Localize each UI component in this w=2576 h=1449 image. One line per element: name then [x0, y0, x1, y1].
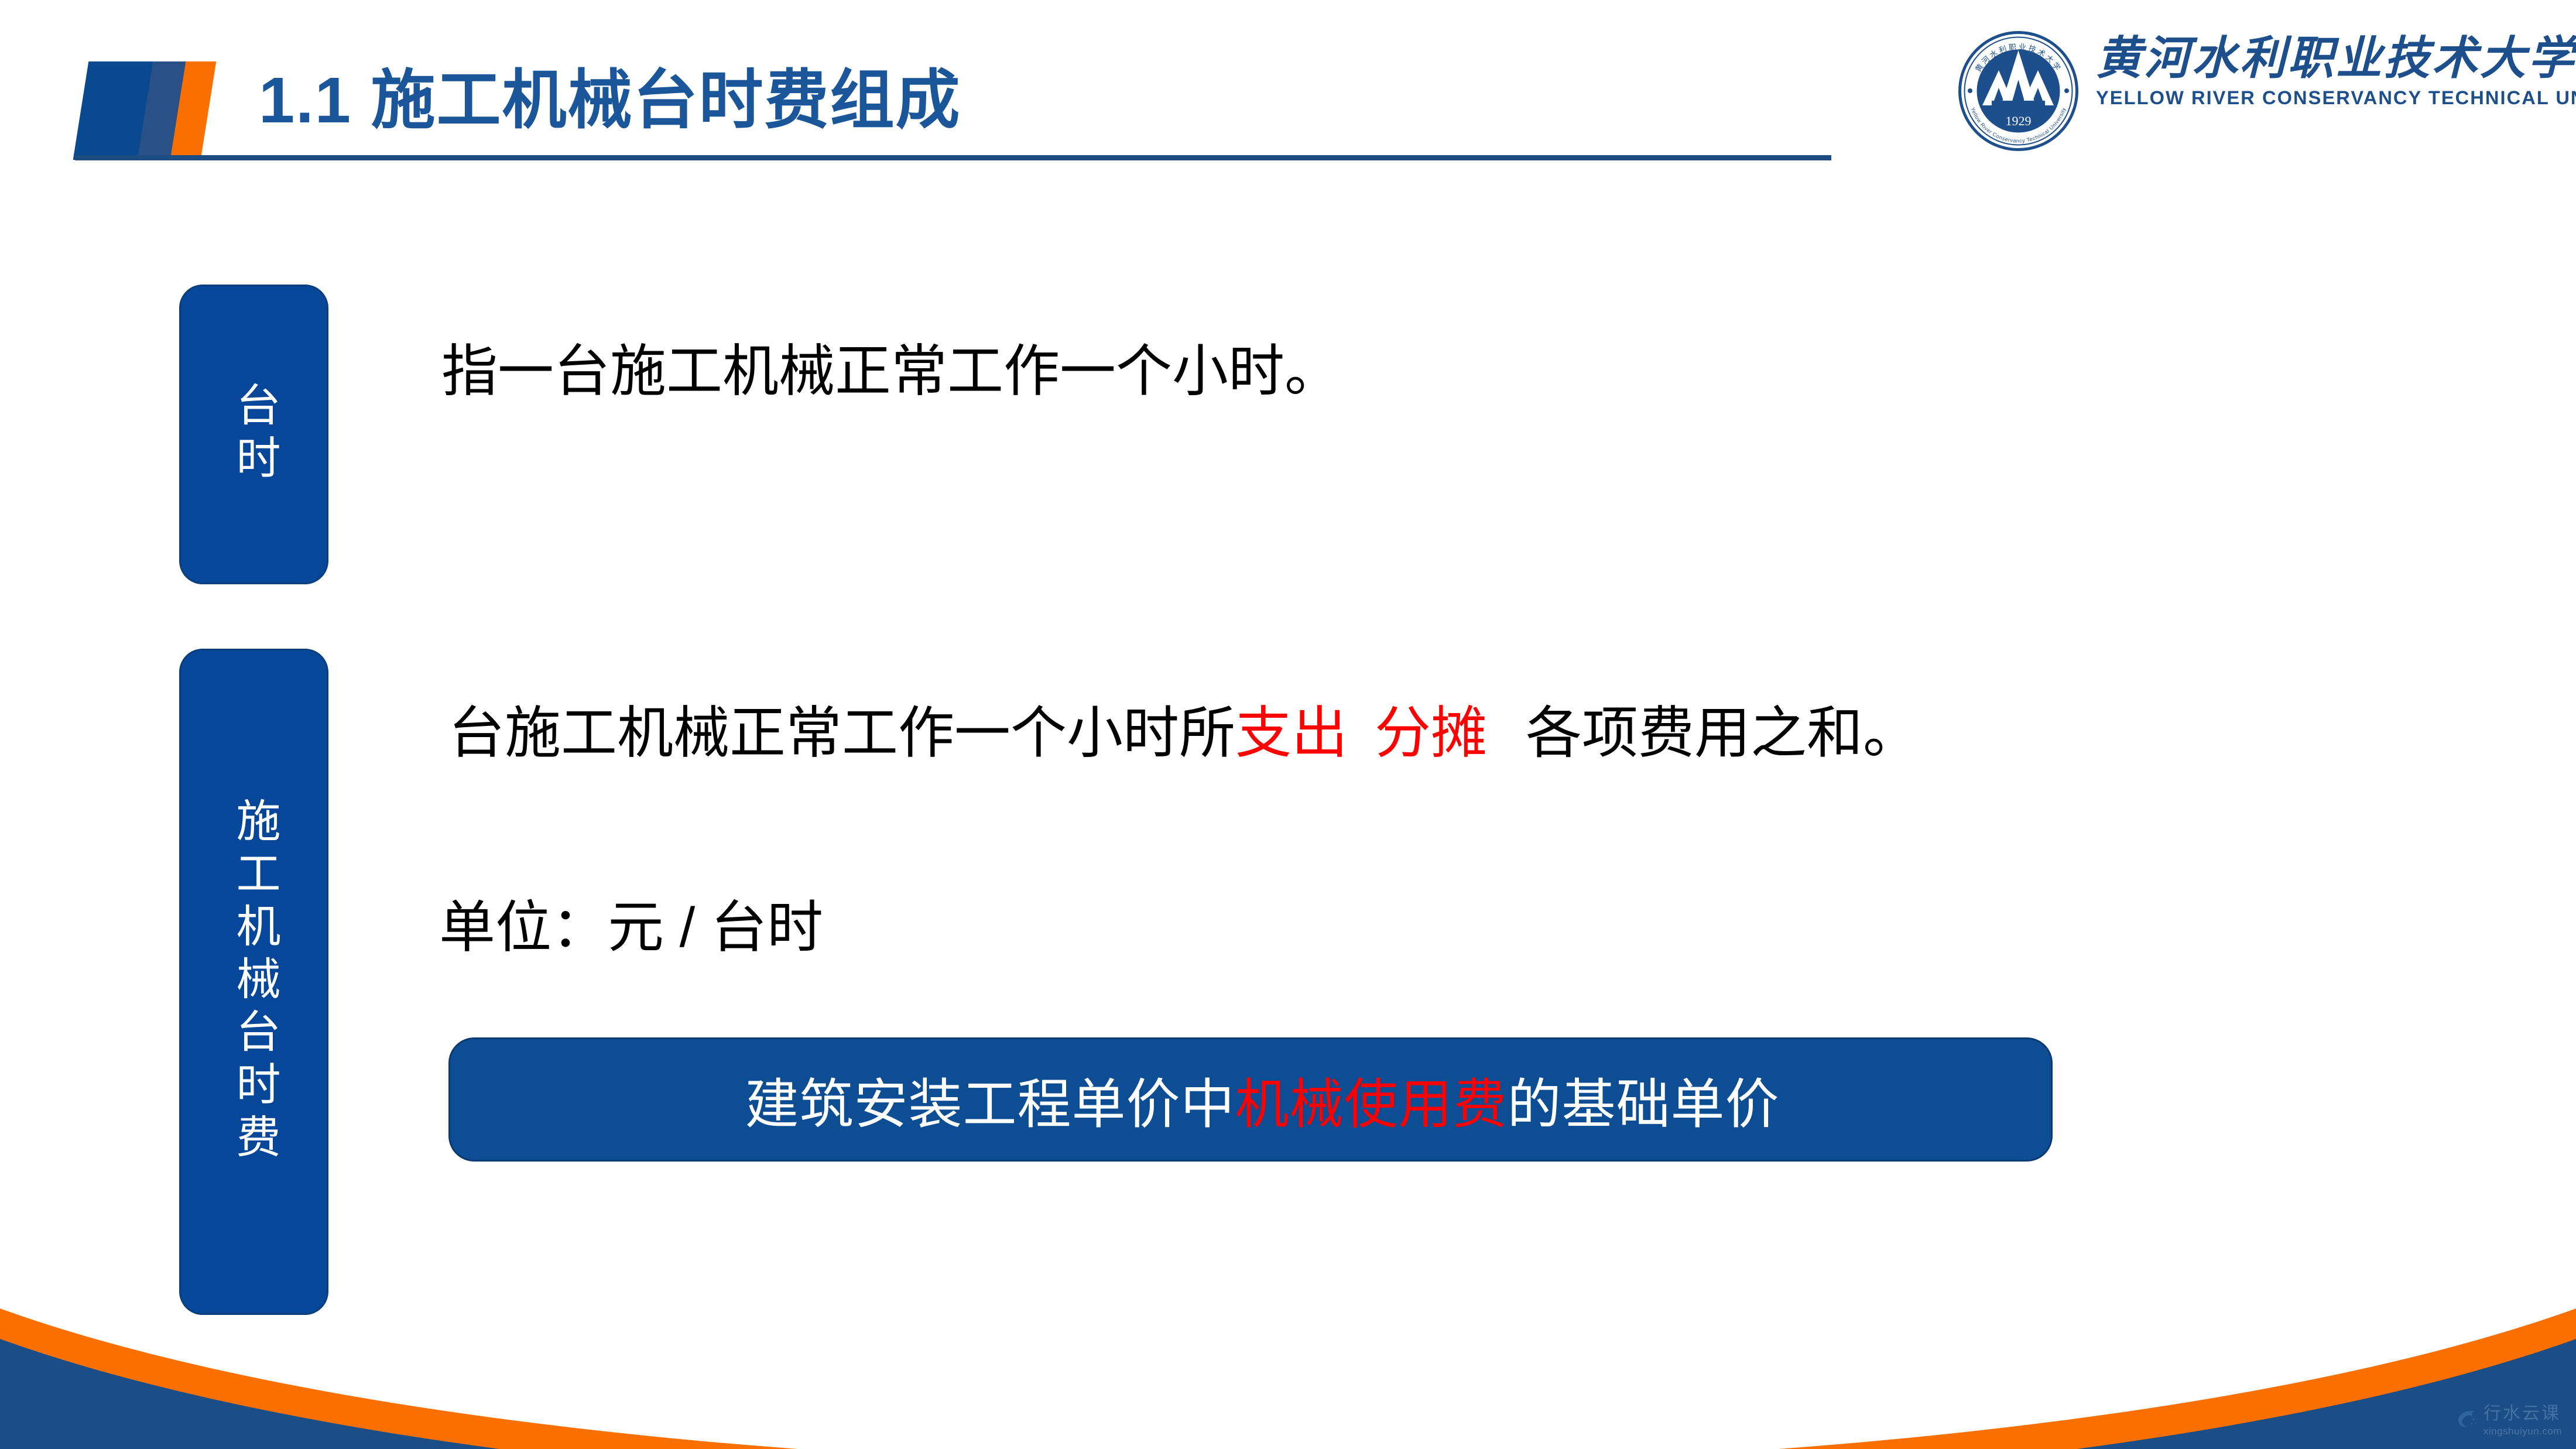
watermark-row: 行水云课 xingshuiyun.com — [2453, 1399, 2562, 1437]
slide-canvas: 1.1 施工机械台时费组成 1929 黄河水利职业技术大学 Yellow Riv… — [0, 0, 2576, 1449]
callout-highlight-machine-use-fee: 机械使用费 — [1235, 1075, 1507, 1135]
university-name-cn: 黄河水利职业技术大学 — [2096, 33, 2558, 84]
paragraph-2-tail: 各项费用之和。 — [1526, 702, 1919, 765]
unit-paragraph: 单位：元 / 台时 — [439, 893, 823, 963]
wave-icon — [2453, 1401, 2479, 1435]
swoosh-orange-band — [0, 1308, 2576, 1449]
swoosh-blue-band — [0, 1339, 2576, 1449]
university-name-block: 黄河水利职业技术大学 YELLOW RIVER CONSERVANCY TECH… — [2096, 33, 2558, 153]
definition-paragraph-1-text: 指一台施工机械正常工作一个小时。 — [441, 340, 1341, 403]
label-box-taishi-text: 台时 — [232, 382, 276, 487]
title-underline-rule — [75, 155, 1831, 160]
callout-box: 建筑安装工程单价中机械使用费的基础单价 — [448, 1037, 2053, 1162]
label-box-machine-hour-fee-text: 施工机械台时费 — [232, 797, 276, 1166]
university-seal-icon: 1929 黄河水利职业技术大学 Yellow River Conservancy… — [1955, 28, 2081, 154]
definition-paragraph-1: 指一台施工机械正常工作一个小时。 — [441, 337, 1341, 407]
university-name-en: YELLOW RIVER CONSERVANCY TECHNICAL UNIVE… — [2096, 87, 2568, 109]
watermark-cn: 行水云课 — [2483, 1399, 2562, 1424]
page-title: 1.1 施工机械台时费组成 — [259, 57, 961, 145]
university-logo: 1929 黄河水利职业技术大学 Yellow River Conservancy… — [1955, 28, 2558, 157]
bottom-swoosh-decoration — [0, 1273, 2576, 1449]
paragraph-2-highlight-apportion: 分摊 — [1375, 702, 1487, 765]
watermark-en: xingshuiyun.com — [2483, 1426, 2562, 1437]
definition-paragraph-2: 台施工机械正常工作一个小时所支出分摊各项费用之和。 — [448, 698, 1919, 769]
unit-paragraph-text: 单位：元 / 台时 — [439, 896, 823, 959]
label-box-machine-hour-fee: 施工机械台时费 — [179, 649, 328, 1315]
watermark: 行水云课 xingshuiyun.com — [2453, 1399, 2562, 1441]
callout-box-text: 建筑安装工程单价中机械使用费的基础单价 — [721, 1061, 1779, 1139]
label-box-taishi: 台时 — [179, 285, 328, 584]
callout-tail: 的基础单价 — [1508, 1075, 1780, 1135]
svg-text:1929: 1929 — [2006, 114, 2032, 128]
paragraph-2-highlight-expense: 支出 — [1235, 702, 1348, 765]
callout-lead: 建筑安装工程单价中 — [745, 1075, 1235, 1135]
paragraph-2-lead: 台施工机械正常工作一个小时所 — [448, 702, 1235, 765]
title-accent-bars — [76, 61, 217, 160]
